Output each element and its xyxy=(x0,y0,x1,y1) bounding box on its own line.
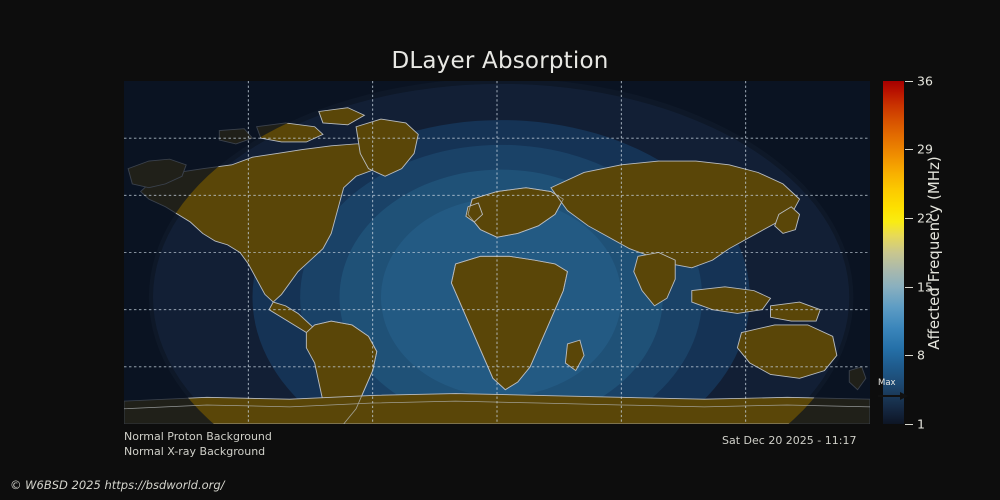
colorbar-tick-1 xyxy=(905,424,913,425)
colorbar-axis-label-text: Affected Frequency (MHz) xyxy=(925,156,943,350)
proton-background-note: Normal Proton Background xyxy=(124,430,272,443)
colorbar-tick-15 xyxy=(905,287,913,288)
page-title: DLayer Absorption xyxy=(0,48,1000,74)
xray-background-note: Normal X-ray Background xyxy=(124,445,265,458)
map-canvas xyxy=(124,81,870,424)
colorbar-gradient[interactable] xyxy=(883,81,904,424)
dlayer-absorption-screen: DLayer Absorption xyxy=(0,0,1000,500)
colorbar-axis-label: Affected Frequency (MHz) xyxy=(921,81,947,424)
colorbar-tick-8 xyxy=(905,355,913,356)
timestamp-label: Sat Dec 20 2025 - 11:17 xyxy=(722,434,856,447)
colorbar-tick-29 xyxy=(905,149,913,150)
colorbar-tick-36 xyxy=(905,81,913,82)
colorbar-tick-22 xyxy=(905,218,913,219)
copyright-notice: © W6BSD 2025 https://bsdworld.org/ xyxy=(10,478,225,492)
world-map[interactable] xyxy=(124,81,870,424)
